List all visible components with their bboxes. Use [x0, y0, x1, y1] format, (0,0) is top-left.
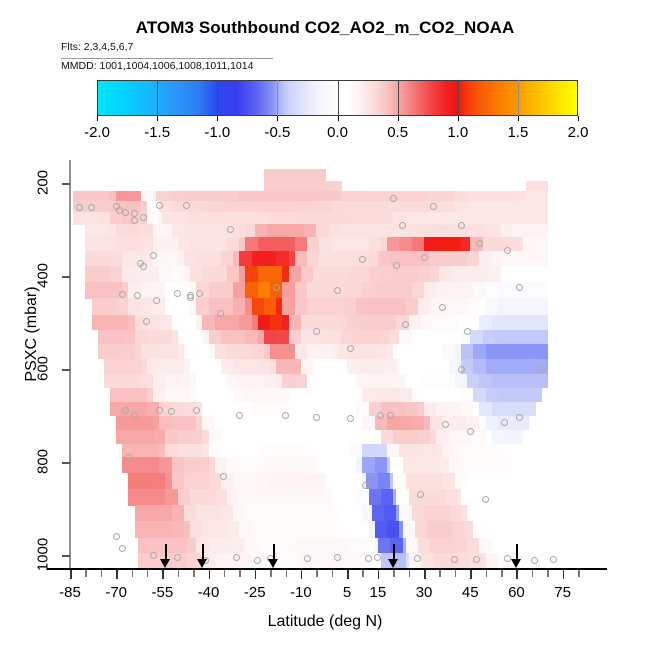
heatmap-cell — [135, 444, 148, 459]
heatmap-cell — [215, 553, 228, 568]
heatmap-cell — [526, 266, 539, 283]
heatmap-cell — [362, 344, 375, 360]
sample-marker — [125, 454, 132, 461]
heatmap-cell — [282, 298, 295, 315]
heatmap-cell — [304, 224, 317, 237]
heatmap-cell — [338, 266, 351, 283]
heatmap-cell — [326, 521, 339, 538]
heatmap-cell — [85, 251, 98, 267]
heatmap-cell — [202, 416, 215, 431]
heatmap-cell — [473, 282, 486, 299]
heatmap-cell — [233, 359, 246, 375]
heatmap-cell — [122, 388, 135, 403]
heatmap-cell — [507, 330, 520, 345]
heatmap-cell — [483, 224, 496, 237]
x-axis-tick-minor — [501, 570, 503, 577]
heatmap-cell — [467, 251, 480, 267]
heatmap-cell — [73, 212, 86, 224]
heatmap-cell — [344, 489, 357, 506]
heatmap-cell — [313, 521, 326, 538]
sample-marker — [550, 556, 557, 563]
heatmap-cell — [282, 237, 295, 252]
heatmap-cell — [98, 237, 111, 252]
heatmap-cell — [270, 212, 283, 224]
heatmap-plot-area[interactable] — [70, 160, 578, 569]
heatmap-cell — [443, 473, 456, 490]
heatmap-cell — [85, 237, 98, 252]
heatmap-cell — [486, 359, 499, 375]
colorbar-tick-label: 0.0 — [327, 124, 348, 141]
heatmap-cell — [212, 212, 225, 224]
heatmap-cell — [424, 359, 437, 375]
heatmap-cell — [209, 388, 222, 403]
heatmap-cell — [473, 359, 486, 375]
heatmap-cell — [301, 169, 314, 182]
heatmap-cell — [443, 201, 456, 213]
heatmap-cell — [209, 538, 222, 554]
heatmap-cell — [141, 224, 154, 237]
heatmap-cell — [461, 282, 474, 299]
heatmap-cell — [224, 212, 237, 224]
heatmap-cell — [233, 330, 246, 345]
heatmap-cell — [427, 457, 440, 473]
heatmap-cell — [184, 416, 197, 431]
heatmap-cell — [270, 416, 283, 431]
heatmap-cell — [270, 266, 283, 283]
heatmap-cell — [433, 489, 446, 506]
x-axis-tick-minor — [486, 570, 488, 577]
heatmap-cell — [510, 388, 523, 403]
heatmap-cell — [258, 237, 271, 252]
heatmap-cell — [375, 521, 388, 538]
heatmap-cell — [245, 538, 258, 554]
x-axis-tick-label: 75 — [554, 584, 571, 601]
heatmap-cell — [141, 489, 154, 506]
heatmap-cell — [359, 315, 372, 331]
heatmap-cell — [427, 521, 440, 538]
heatmap-cell — [381, 298, 394, 315]
heatmap-cell — [147, 330, 160, 345]
heatmap-cell — [486, 521, 499, 538]
heatmap-cell — [128, 489, 141, 506]
heatmap-cell — [215, 266, 228, 283]
heatmap-cell — [467, 505, 480, 522]
heatmap-cell — [461, 489, 474, 506]
heatmap-cell — [292, 224, 305, 237]
heatmap-cell — [326, 416, 339, 431]
heatmap-cell — [122, 344, 135, 360]
heatmap-cell — [504, 430, 517, 445]
heatmap-cell — [384, 505, 397, 522]
heatmap-cell — [406, 538, 419, 554]
x-axis-tick-minor — [224, 570, 226, 577]
heatmap-cell — [122, 266, 135, 283]
heatmap-cell — [344, 430, 357, 445]
heatmap-cell — [289, 521, 302, 538]
heatmap-cell — [362, 416, 375, 431]
heatmap-cell — [449, 282, 462, 299]
heatmap-cell — [159, 416, 172, 431]
heatmap-cell — [418, 344, 431, 360]
sample-marker — [458, 222, 465, 229]
heatmap-cell — [110, 388, 123, 403]
heatmap-cell — [301, 416, 314, 431]
heatmap-cell — [258, 359, 271, 375]
heatmap-cell — [252, 402, 265, 417]
heatmap-cell — [332, 402, 345, 417]
heatmap-cell — [332, 237, 345, 252]
heatmap-cell — [153, 489, 166, 506]
heatmap-cell — [433, 315, 446, 331]
heatmap-cell — [295, 212, 308, 224]
heatmap-cell — [307, 505, 320, 522]
heatmap-cell — [529, 212, 542, 224]
heatmap-cell — [209, 374, 222, 389]
heatmap-cell — [128, 359, 141, 375]
heatmap-cell — [178, 489, 191, 506]
heatmap-cell — [492, 315, 505, 331]
heatmap-cell — [276, 330, 289, 345]
heatmap-cell — [479, 251, 492, 267]
heatmap-cell — [492, 201, 505, 213]
heatmap-cell — [406, 212, 419, 224]
heatmap-cell — [541, 201, 548, 213]
heatmap-cell — [258, 282, 271, 299]
heatmap-cell — [399, 416, 412, 431]
heatmap-cell — [399, 330, 412, 345]
heatmap-cell — [239, 251, 252, 267]
x-axis-tick-major — [347, 570, 349, 579]
heatmap-cell — [430, 473, 443, 490]
heatmap-cell — [479, 402, 492, 417]
heatmap-cell — [516, 505, 529, 522]
heatmap-cell — [209, 330, 222, 345]
x-axis-tick-minor — [578, 570, 580, 577]
heatmap-cell — [378, 473, 391, 490]
heatmap-cell — [455, 201, 468, 213]
heatmap-cell — [319, 282, 332, 299]
heatmap-cell — [196, 473, 209, 490]
x-axis-tick-minor — [316, 570, 318, 577]
sample-marker — [538, 366, 545, 373]
heatmap-cell — [319, 505, 332, 522]
heatmap-cell — [165, 489, 178, 506]
heatmap-cell — [529, 251, 542, 267]
heatmap-cell — [424, 444, 437, 459]
heatmap-cell — [153, 374, 166, 389]
heatmap-cell — [384, 315, 397, 331]
heatmap-cell — [239, 374, 252, 389]
heatmap-cell — [153, 473, 166, 490]
heatmap-cell — [116, 359, 129, 375]
heatmap-cell — [415, 457, 428, 473]
heatmap-cell — [202, 237, 215, 252]
heatmap-cell — [443, 212, 456, 224]
heatmap-cell — [202, 402, 215, 417]
profile-arrow-icon — [388, 544, 399, 568]
sample-marker — [458, 366, 465, 373]
y-axis-line — [69, 160, 71, 569]
heatmap-cell — [356, 237, 369, 252]
heatmap-cell — [403, 251, 416, 267]
heatmap-cell — [252, 374, 265, 389]
heatmap-cell — [455, 473, 468, 490]
heatmap-cell — [418, 298, 431, 315]
heatmap-cell — [378, 251, 391, 267]
heatmap-cell — [319, 251, 332, 267]
heatmap-cell — [190, 521, 203, 538]
heatmap-cell — [510, 521, 523, 538]
heatmap-cell — [98, 201, 111, 213]
heatmap-cell — [258, 266, 271, 283]
heatmap-cell — [430, 212, 443, 224]
heatmap-cell — [344, 298, 357, 315]
heatmap-cell — [116, 416, 129, 431]
heatmap-cell — [476, 266, 489, 283]
x-axis-tick-minor — [532, 570, 534, 577]
heatmap-cell — [128, 298, 141, 315]
colorbar-divider — [217, 80, 218, 116]
heatmap-cell — [128, 224, 141, 237]
heatmap-cell — [295, 505, 308, 522]
x-axis-tick-minor — [193, 570, 195, 577]
heatmap-cell — [110, 212, 123, 224]
heatmap-cell — [85, 212, 98, 224]
heatmap-cell — [529, 538, 542, 554]
x-axis-tick-minor — [393, 570, 395, 577]
heatmap-cell — [523, 521, 536, 538]
heatmap-cell — [378, 224, 391, 237]
heatmap-cell — [362, 457, 375, 473]
heatmap-cell — [147, 359, 160, 375]
heatmap-cell — [178, 237, 191, 252]
heatmap-cell — [406, 201, 419, 213]
heatmap-cell — [233, 505, 246, 522]
heatmap-cell — [172, 315, 185, 331]
colorbar-tick — [398, 116, 399, 121]
sample-marker — [304, 555, 311, 562]
heatmap-cell — [236, 212, 249, 224]
heatmap-cell — [307, 251, 320, 267]
heatmap-cell — [270, 315, 283, 331]
heatmap-cell — [418, 212, 431, 224]
heatmap-cell — [406, 266, 419, 283]
heatmap-cell — [184, 315, 197, 331]
heatmap-cell — [523, 388, 536, 403]
heatmap-cell — [332, 201, 345, 213]
heatmap-cell — [369, 430, 382, 445]
heatmap-cell — [366, 330, 379, 345]
heatmap-cell — [147, 212, 160, 224]
heatmap-cell — [387, 282, 400, 299]
heatmap-cell — [326, 315, 339, 331]
heatmap-cell — [362, 444, 375, 459]
heatmap-cell — [215, 237, 228, 252]
heatmap-cell — [424, 388, 437, 403]
heatmap-cell — [473, 457, 486, 473]
heatmap-cell — [381, 201, 394, 213]
heatmap-cell — [406, 344, 419, 360]
colorbar-divider — [398, 80, 399, 116]
x-axis-tick-label: -25 — [244, 584, 266, 601]
heatmap-cell — [104, 315, 117, 331]
x-axis-tick-minor — [286, 570, 288, 577]
heatmap-cell — [178, 388, 191, 403]
heatmap-cell — [492, 538, 505, 554]
heatmap-cell — [184, 344, 197, 360]
heatmap-cell — [178, 430, 191, 445]
colorbar-divider — [157, 80, 158, 116]
heatmap-cell — [332, 298, 345, 315]
heatmap-cell — [492, 505, 505, 522]
heatmap-cell — [362, 282, 375, 299]
heatmap-cell — [313, 388, 326, 403]
heatmap-cell — [338, 388, 351, 403]
heatmap-cell — [449, 402, 462, 417]
heatmap-cell — [221, 251, 234, 267]
colorbar-tick — [338, 116, 339, 121]
heatmap-cell — [199, 212, 212, 224]
heatmap-cell — [135, 388, 148, 403]
heatmap-cell — [209, 430, 222, 445]
heatmap-cell — [504, 201, 517, 213]
heatmap-cell — [172, 521, 185, 538]
heatmap-cell — [393, 298, 406, 315]
heatmap-cell — [116, 315, 129, 331]
y-axis-tick — [62, 462, 70, 464]
heatmap-cell — [187, 212, 200, 224]
heatmap-cell — [196, 457, 209, 473]
heatmap-cell — [227, 457, 240, 473]
heatmap-cell — [393, 344, 406, 360]
heatmap-cell — [344, 212, 357, 224]
heatmap-cell — [264, 489, 277, 506]
page-title: ATOM3 Southbound CO2_AO2_m_CO2_NOAA — [0, 18, 650, 38]
mmdd-label: MMDD: 1001,1004,1006,1008,1011,1014 — [61, 60, 253, 72]
heatmap-cell — [326, 444, 339, 459]
heatmap-cell — [409, 224, 422, 237]
colorbar-tick — [157, 116, 158, 121]
heatmap-cell — [369, 489, 382, 506]
heatmap-cell — [221, 201, 234, 213]
heatmap-cell — [313, 266, 326, 283]
heatmap-cell — [110, 344, 123, 360]
heatmap-cell — [443, 251, 456, 267]
heatmap-cell — [319, 344, 332, 360]
heatmap-cell — [492, 402, 505, 417]
heatmap-cell — [295, 538, 308, 554]
heatmap-cell — [439, 521, 452, 538]
heatmap-cell — [245, 416, 258, 431]
heatmap-cell — [492, 212, 505, 224]
heatmap-cell — [190, 444, 203, 459]
heatmap-cell — [162, 212, 175, 224]
sample-marker — [236, 412, 243, 419]
heatmap-cell — [276, 430, 289, 445]
heatmap-cell — [418, 374, 431, 389]
heatmap-cell — [344, 201, 357, 213]
heatmap-cell — [165, 388, 178, 403]
heatmap-cell — [436, 505, 449, 522]
heatmap-cell — [267, 224, 280, 237]
heatmap-cell — [424, 330, 437, 345]
heatmap-cell — [319, 402, 332, 417]
heatmap-cell — [141, 416, 154, 431]
colorbar-tick-label: -1.5 — [144, 124, 170, 141]
heatmap-cell — [110, 266, 123, 283]
heatmap-cell — [202, 266, 215, 283]
heatmap-cell — [92, 298, 105, 315]
heatmap-cell — [233, 444, 246, 459]
x-axis-tick-major — [563, 570, 565, 579]
sample-marker — [359, 256, 366, 263]
heatmap-cell — [202, 521, 215, 538]
heatmap-cell — [245, 444, 258, 459]
heatmap-cell — [436, 388, 449, 403]
colorbar-tick-label: -1.0 — [204, 124, 230, 141]
heatmap-cell — [184, 224, 197, 237]
heatmap-cell — [479, 444, 492, 459]
heatmap-cell — [479, 201, 492, 213]
heatmap-cell — [282, 282, 295, 299]
heatmap-cell — [147, 266, 160, 283]
y-axis-tick — [62, 276, 70, 278]
heatmap-cell — [332, 212, 345, 224]
heatmap-cell — [289, 330, 302, 345]
heatmap-cell — [381, 212, 394, 224]
heatmap-cell — [159, 315, 172, 331]
x-axis-tick-minor — [178, 570, 180, 577]
heatmap-cell — [141, 298, 154, 315]
heatmap-cell — [356, 489, 369, 506]
heatmap-cell — [239, 344, 252, 360]
heatmap-cell — [372, 359, 385, 375]
sample-marker — [88, 204, 95, 211]
heatmap-cell — [147, 505, 160, 522]
heatmap-cell — [436, 430, 449, 445]
heatmap-cell — [535, 237, 548, 252]
x-axis-tick-minor — [101, 570, 103, 577]
heatmap-cell — [479, 212, 492, 224]
y-axis-tick-label: 200 — [35, 162, 52, 204]
heatmap-cell — [245, 237, 258, 252]
heatmap-cell — [332, 538, 345, 554]
heatmap-cell — [516, 430, 523, 445]
heatmap-cell — [393, 374, 406, 389]
heatmap-cell — [498, 282, 511, 299]
heatmap-cell — [135, 330, 148, 345]
heatmap-cell — [215, 315, 228, 331]
heatmap-cell — [513, 266, 526, 283]
heatmap-cell — [98, 344, 111, 360]
heatmap-cell — [172, 416, 185, 431]
heatmap-cell — [535, 298, 548, 315]
heatmap-cell — [122, 330, 135, 345]
heatmap-cell — [153, 430, 166, 445]
heatmap-cell — [344, 521, 357, 538]
heatmap-cell — [221, 538, 234, 554]
heatmap-cell — [221, 430, 234, 445]
heatmap-cell — [393, 201, 406, 213]
heatmap-cell — [455, 374, 468, 389]
heatmap-cell — [190, 330, 203, 345]
heatmap-cell — [501, 266, 514, 283]
heatmap-cell — [535, 388, 542, 403]
y-axis-tick — [62, 369, 70, 371]
heatmap-cell — [282, 444, 295, 459]
heatmap-cell — [406, 402, 419, 417]
x-axis-tick-label: -70 — [105, 584, 127, 601]
